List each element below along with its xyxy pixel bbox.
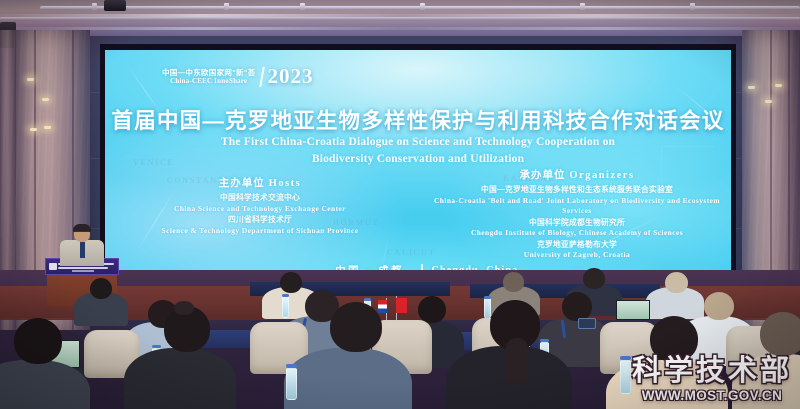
organizers-block: 承办单位 Organizers 中国—克罗地亚生物多样性和生态系统服务联合实验室…: [427, 168, 727, 261]
title-en-line-1: The First China-Croatia Dialogue on Scie…: [105, 134, 731, 151]
wall-sconce: [27, 78, 34, 81]
organizer-name-cn: 中国科学院成都生物研究所: [427, 217, 727, 228]
host-name-cn: 四川省科学技术厅: [135, 214, 385, 225]
croatia-flag: [378, 300, 387, 313]
screenshot-root: VENICE CONSTANTINOPLE KASHGAR HORMUZ CAL…: [0, 0, 800, 409]
bottle-cap: [364, 298, 371, 301]
host-name-cn: 中国科学技术交流中心: [135, 192, 385, 203]
organizer-entry: 克罗地亚萨格勒布大学 University of Zagreb, Croatia: [427, 239, 727, 261]
person-ponytail: [506, 338, 528, 386]
person-head: [90, 278, 112, 299]
logo-english-text: China-CEEC InnoShare: [162, 77, 256, 85]
bottle-cap: [286, 364, 297, 368]
hosts-heading-en: Hosts: [269, 178, 302, 189]
person-head: [280, 272, 302, 293]
logo-year: 2023: [268, 64, 314, 89]
person-head: [330, 302, 382, 352]
ceiling-light-strip: [0, 27, 800, 30]
person-head: [760, 312, 800, 356]
water-bottle: [286, 368, 297, 400]
wall-sconce: [765, 100, 772, 103]
wall-sconce: [775, 84, 782, 87]
wall-sconce: [42, 98, 49, 101]
led-screen: VENICE CONSTANTINOPLE KASHGAR HORMUZ CAL…: [105, 50, 731, 291]
organizers-heading-en: Organizers: [569, 170, 634, 181]
speaker-at-podium: [60, 225, 104, 265]
wall-sconce: [30, 128, 37, 131]
organizer-name-cn: 中国—克罗地亚生物多样性和生态系统服务联合实验室: [427, 184, 727, 195]
pipe-clip: [300, 3, 305, 10]
conference-title-english: The First China-Croatia Dialogue on Scie…: [105, 134, 731, 169]
person-head: [583, 268, 605, 289]
organizer-entry: 中国科学院成都生物研究所 Chengdu Institute of Biolog…: [427, 217, 727, 239]
pipe-clip: [690, 3, 695, 10]
conference-title-chinese: 首届中国—克罗地亚生物多样性保护与利用科技合作对话会议: [105, 104, 731, 135]
title-en-line-2: Biodiversity Conservation and Utilizatio…: [105, 151, 731, 168]
china-flag: [396, 298, 407, 313]
logo-divider: [259, 67, 265, 87]
person-head: [562, 292, 592, 321]
hosts-block: 主办单位 Hosts 中国科学技术交流中心 China Science and …: [135, 176, 385, 236]
screen-content: 中国—中东欧国家网"新"荟 China-CEEC InnoShare 2023 …: [105, 50, 731, 291]
hosts-heading: 主办单位 Hosts: [135, 176, 385, 191]
bottle-cap: [152, 345, 161, 348]
pipe-clip: [580, 3, 585, 10]
podium-banner-text-line: [58, 267, 108, 269]
smartphone[interactable]: [578, 318, 596, 329]
host-entry: 中国科学技术交流中心 China Science and Technology …: [135, 192, 385, 214]
water-bottle: [484, 298, 491, 319]
person-shoulders: [284, 348, 412, 409]
led-screen-frame: VENICE CONSTANTINOPLE KASHGAR HORMUZ CAL…: [100, 44, 736, 296]
pipe-clip: [224, 3, 229, 10]
organizer-name-en: University of Zagreb, Croatia: [427, 250, 727, 261]
organizer-entry: 中国—克罗地亚生物多样性和生态系统服务联合实验室 China-Croatia '…: [427, 184, 727, 217]
bottle-cap: [540, 339, 549, 342]
host-entry: 四川省科学技术厅 Science & Technology Department…: [135, 214, 385, 236]
wall-sconce: [748, 86, 755, 89]
person-shoulders: [124, 348, 236, 409]
ceiling-projector: [104, 0, 126, 11]
pipe-clip: [420, 3, 425, 10]
hosts-heading-cn: 主办单位: [219, 177, 265, 189]
person-hair-bun: [174, 301, 194, 315]
organizers-heading: 承办单位 Organizers: [427, 168, 727, 183]
host-name-en: China Science and Technology Exchange Ce…: [135, 204, 385, 215]
event-logo: 中国—中东欧国家网"新"荟 China-CEEC InnoShare 2023: [162, 64, 314, 89]
bottle-cap: [282, 294, 289, 297]
organizer-name-en: China-Croatia 'Belt and Road' Joint Labo…: [427, 196, 727, 217]
wall-sconce: [44, 126, 51, 129]
person-head: [418, 296, 446, 323]
laptop-screen: [616, 300, 650, 320]
person-head: [14, 318, 62, 364]
speaker-glasses: [75, 231, 89, 234]
person-head: [503, 272, 524, 292]
organizer-name-cn: 克罗地亚萨格勒布大学: [427, 239, 727, 250]
pipe-clip: [92, 3, 97, 10]
person-head: [650, 316, 698, 362]
podium-banner-subtext: [72, 270, 94, 272]
organizers-heading-cn: 承办单位: [519, 169, 565, 181]
water-bottle: [620, 360, 631, 394]
person-head: [704, 292, 734, 320]
podium-banner-logo: [49, 263, 57, 270]
speaker-necktie: [80, 242, 85, 258]
bottle-cap: [484, 296, 491, 299]
ceiling-pipe: [0, 17, 800, 20]
organizer-name-en: Chengdu Institute of Biology, Chinese Ac…: [427, 228, 727, 239]
host-name-en: Science & Technology Department of Sichu…: [135, 226, 385, 237]
bottle-cap: [620, 356, 631, 360]
logo-chinese-text: 中国—中东欧国家网"新"荟: [162, 68, 256, 77]
person-head: [665, 272, 688, 293]
water-bottle: [282, 296, 289, 318]
